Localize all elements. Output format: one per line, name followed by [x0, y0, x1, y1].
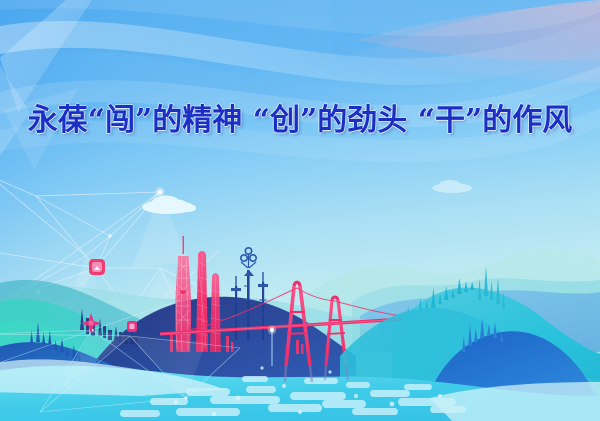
marker-small-icon[interactable] [127, 321, 137, 332]
markers-layer [0, 0, 600, 421]
marker-square-icon[interactable] [89, 259, 105, 275]
poster-canvas: 永葆“闯”的精神 “创”的劲头 “干”的作风 [0, 0, 600, 421]
marker-star-icon[interactable] [81, 313, 102, 334]
